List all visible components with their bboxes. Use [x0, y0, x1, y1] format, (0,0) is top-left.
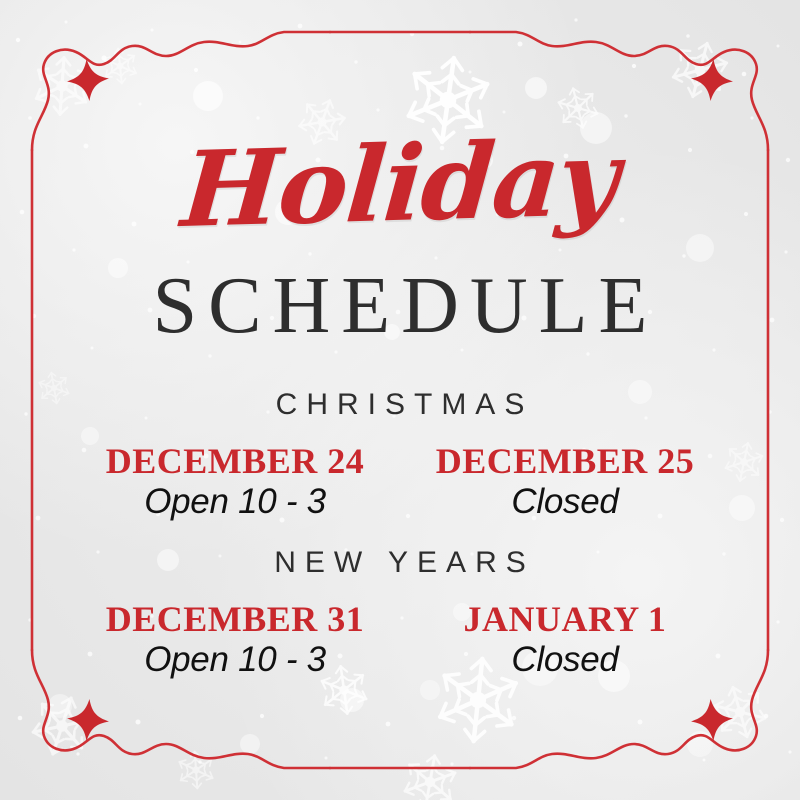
entry-hours: Open 10 - 3 — [70, 481, 400, 522]
entry-date: DECEMBER 24 — [70, 442, 400, 481]
holiday-schedule-poster: Holiday SCHEDULE CHRISTMAS DECEMBER 24 O… — [0, 0, 800, 800]
entry-hours: Closed — [400, 481, 730, 522]
page-title-schedule: SCHEDULE — [142, 266, 659, 346]
entry-date: DECEMBER 31 — [70, 600, 400, 639]
entry-hours: Open 10 - 3 — [70, 639, 400, 680]
entry-date: JANUARY 1 — [400, 600, 730, 639]
section-label-christmas: CHRISTMAS — [267, 390, 534, 420]
schedule-grid-new-years: DECEMBER 31 Open 10 - 3 JANUARY 1 Closed — [70, 600, 730, 680]
entry-date: DECEMBER 25 — [400, 442, 730, 481]
entry-hours: Closed — [400, 639, 730, 680]
script-title-holiday: Holiday — [179, 126, 621, 242]
poster-content: Holiday SCHEDULE CHRISTMAS DECEMBER 24 O… — [0, 0, 800, 800]
schedule-entry: JANUARY 1 Closed — [400, 600, 730, 680]
section-label-new-years: NEW YEARS — [265, 548, 535, 578]
schedule-entry: DECEMBER 24 Open 10 - 3 — [70, 442, 400, 522]
schedule-entry: DECEMBER 31 Open 10 - 3 — [70, 600, 400, 680]
schedule-grid-christmas: DECEMBER 24 Open 10 - 3 DECEMBER 25 Clos… — [70, 442, 730, 522]
schedule-entry: DECEMBER 25 Closed — [400, 442, 730, 522]
